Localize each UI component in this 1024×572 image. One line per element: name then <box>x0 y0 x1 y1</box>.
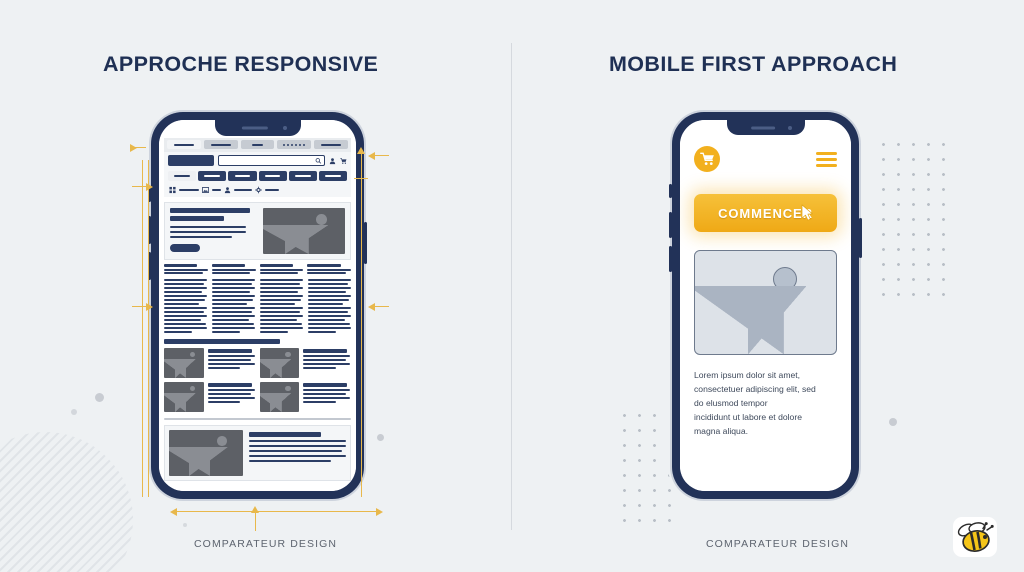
measure-guide-line <box>142 160 143 497</box>
teaser-item <box>212 264 256 274</box>
hero-copy <box>170 208 257 254</box>
dot-grid-decoration <box>876 137 948 299</box>
text-line <box>164 323 206 325</box>
measure-arrow-shaft <box>374 155 389 156</box>
text-line <box>308 279 351 281</box>
site-logo <box>168 155 214 166</box>
shopping-cart-icon <box>700 152 715 166</box>
text-line <box>260 323 302 325</box>
hero-text-line <box>170 226 246 228</box>
search-input[interactable] <box>218 155 325 166</box>
nav-item[interactable] <box>259 171 287 181</box>
hero-text-line <box>170 231 246 233</box>
measure-tick <box>354 178 368 179</box>
browser-tab[interactable] <box>277 140 311 149</box>
phone-power-button <box>859 218 862 258</box>
decorative-dot <box>889 418 897 426</box>
page-title-left: APPROCHE RESPONSIVE <box>103 52 378 77</box>
text-line <box>164 299 205 301</box>
card-image-placeholder <box>164 348 204 378</box>
content-card[interactable] <box>164 382 255 412</box>
text-line <box>260 327 303 329</box>
measure-arrow-right <box>376 508 383 516</box>
measure-arrow-up <box>357 147 365 154</box>
text-line <box>212 315 255 317</box>
teaser-row <box>164 264 351 274</box>
text-line <box>260 283 300 285</box>
user-icon[interactable] <box>224 186 231 194</box>
phone-power-button <box>364 222 367 264</box>
text-line <box>164 295 207 297</box>
wireframe-page <box>159 120 356 491</box>
measure-arrow-up <box>251 506 259 513</box>
page-title-right: MOBILE FIRST APPROACH <box>609 52 897 77</box>
text-line <box>308 323 350 325</box>
phone-side-button <box>669 212 672 238</box>
text-line <box>212 279 255 281</box>
utility-label <box>234 189 252 191</box>
bee-logo-icon <box>952 516 998 558</box>
text-line <box>212 303 247 305</box>
utility-icon-row <box>164 183 351 197</box>
phone-side-button <box>669 184 672 198</box>
phone-notch <box>727 120 805 135</box>
nav-item[interactable] <box>198 171 226 181</box>
user-account-icon[interactable] <box>329 157 336 165</box>
striped-circle-decoration <box>0 432 133 572</box>
phone-mockup-mobile-first: COMMENCER Lorem ipsum dolor sit amet, co… <box>672 112 859 499</box>
text-line <box>212 299 253 301</box>
mountain-shape <box>694 286 837 354</box>
mouse-cursor-icon <box>801 204 815 221</box>
browser-tab[interactable] <box>204 140 238 149</box>
text-line <box>164 291 202 293</box>
slide-canvas: APPROCHE RESPONSIVE MOBILE FIRST APPROAC… <box>0 0 1024 572</box>
text-line <box>308 311 348 313</box>
phone-screen-mobile-first: COMMENCER Lorem ipsum dolor sit amet, co… <box>680 120 851 491</box>
text-line <box>260 291 298 293</box>
featured-card[interactable] <box>164 425 351 481</box>
measure-arrow-shaft <box>374 306 389 307</box>
section-divider <box>164 418 351 420</box>
text-line <box>260 303 295 305</box>
grid-icon[interactable] <box>169 186 176 194</box>
nav-item[interactable] <box>168 171 196 181</box>
text-line <box>212 327 255 329</box>
utility-label <box>265 189 279 191</box>
text-line <box>164 303 199 305</box>
nav-item[interactable] <box>228 171 256 181</box>
front-camera-icon <box>788 126 792 130</box>
card-grid <box>164 348 351 412</box>
hero-cta-button[interactable] <box>170 244 200 252</box>
text-line <box>212 283 252 285</box>
decorative-dot <box>95 393 104 402</box>
card-image-placeholder <box>260 348 300 378</box>
text-line <box>308 307 351 309</box>
text-line <box>308 299 349 301</box>
text-line <box>260 279 303 281</box>
phone-mockup-responsive <box>151 112 364 499</box>
gear-icon[interactable] <box>255 186 262 194</box>
text-line <box>260 331 288 333</box>
search-icon <box>315 157 322 165</box>
hero-image-placeholder <box>263 208 345 254</box>
text-line <box>212 323 254 325</box>
earpiece-speaker <box>751 126 775 129</box>
text-column-group <box>164 279 351 333</box>
text-line <box>164 283 204 285</box>
teaser-item <box>260 264 304 274</box>
text-line <box>308 303 343 305</box>
hero-text-line <box>170 236 232 238</box>
text-line <box>164 319 201 321</box>
text-line <box>260 299 301 301</box>
text-line <box>308 315 351 317</box>
text-line <box>212 307 255 309</box>
text-line <box>212 319 249 321</box>
content-card[interactable] <box>260 348 351 378</box>
panel-divider <box>511 43 512 530</box>
teaser-item <box>307 264 351 274</box>
nav-item[interactable] <box>319 171 347 181</box>
earpiece-speaker <box>241 127 267 130</box>
text-line <box>164 287 207 289</box>
measure-arrow-shaft <box>132 306 148 307</box>
text-line <box>308 291 346 293</box>
hamburger-menu-icon[interactable] <box>816 152 837 167</box>
text-line <box>164 327 207 329</box>
text-line <box>260 307 303 309</box>
mobile-header <box>694 146 837 172</box>
text-column <box>308 279 351 333</box>
caption-right: COMPARATEUR DESIGN <box>706 538 849 550</box>
phone-screen-responsive <box>159 120 356 491</box>
text-line <box>164 315 207 317</box>
nav-item[interactable] <box>289 171 317 181</box>
dot-grid-decoration <box>617 408 679 528</box>
text-line <box>260 287 303 289</box>
site-header-bar <box>164 152 351 169</box>
browser-tab[interactable] <box>241 140 275 149</box>
text-line <box>308 327 351 329</box>
content-card[interactable] <box>260 382 351 412</box>
text-line <box>260 311 300 313</box>
phone-side-button <box>669 246 672 272</box>
image-icon[interactable] <box>202 186 209 194</box>
browser-tab-strip <box>164 138 351 152</box>
body-paragraph: Lorem ipsum dolor sit amet, consectetuer… <box>694 369 837 439</box>
featured-image-placeholder <box>169 430 243 476</box>
main-navigation <box>164 169 351 183</box>
measure-pointer-line <box>255 511 256 531</box>
decorative-dot <box>71 409 77 415</box>
text-line <box>260 315 303 317</box>
hero-section <box>164 202 351 260</box>
cart-button[interactable] <box>694 146 720 172</box>
image-placeholder <box>694 250 837 355</box>
phone-notch <box>215 120 301 136</box>
commencer-button-label: COMMENCER <box>718 206 813 221</box>
text-line <box>308 319 345 321</box>
text-line <box>212 331 240 333</box>
text-line <box>308 287 351 289</box>
text-line <box>212 311 252 313</box>
utility-label <box>179 189 199 191</box>
shopping-cart-icon[interactable] <box>340 157 347 165</box>
text-column <box>164 279 207 333</box>
decorative-dot <box>183 523 187 527</box>
teaser-item <box>164 264 208 274</box>
text-line <box>164 307 207 309</box>
text-line <box>260 319 297 321</box>
measure-arrow-shaft <box>132 186 148 187</box>
browser-tab[interactable] <box>167 140 201 149</box>
measure-width-line <box>176 511 376 512</box>
hero-heading-line <box>170 208 250 213</box>
measure-guide-line <box>361 153 362 497</box>
text-line <box>164 279 207 281</box>
content-card[interactable] <box>164 348 255 378</box>
text-line <box>164 331 192 333</box>
text-line <box>212 291 250 293</box>
section-heading <box>164 339 280 344</box>
text-column <box>260 279 303 333</box>
commencer-button[interactable]: COMMENCER <box>694 194 837 232</box>
text-column <box>212 279 255 333</box>
text-line <box>308 295 351 297</box>
text-line <box>212 295 255 297</box>
hero-heading-line <box>170 216 224 221</box>
text-line <box>308 283 348 285</box>
mobile-app-screen: COMMENCER Lorem ipsum dolor sit amet, co… <box>680 120 851 491</box>
text-line <box>308 331 336 333</box>
measure-guide-line <box>148 160 149 497</box>
front-camera-icon <box>283 126 287 130</box>
measure-arrow-left <box>170 508 177 516</box>
card-image-placeholder <box>164 382 204 412</box>
card-image-placeholder <box>260 382 300 412</box>
browser-tab[interactable] <box>314 140 348 149</box>
measure-arrow-shaft <box>132 147 146 148</box>
decorative-dot <box>377 434 384 441</box>
text-line <box>260 295 303 297</box>
text-line <box>212 287 255 289</box>
caption-left: COMPARATEUR DESIGN <box>194 538 337 550</box>
text-line <box>164 311 204 313</box>
utility-label <box>212 189 221 191</box>
